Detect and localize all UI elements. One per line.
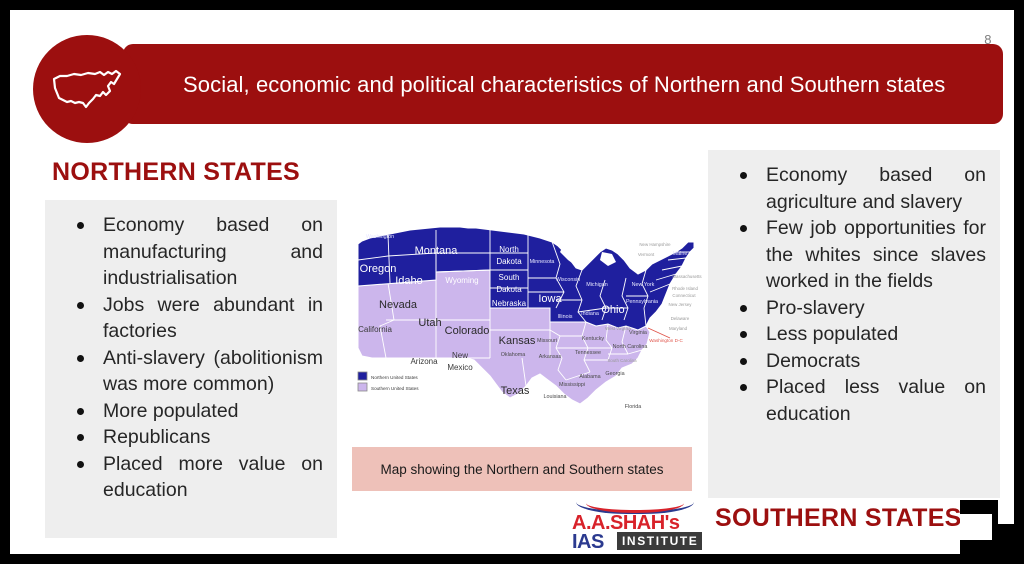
map-label-new-hampshire: New Hampshire — [639, 242, 671, 247]
list-item: Few job opportunities for the whites sin… — [724, 215, 986, 295]
map-label-arkansas: Arkansas — [539, 354, 562, 360]
map-label-texas: Texas — [501, 385, 530, 397]
corner-notch-cut-2 — [998, 500, 1014, 524]
southern-bullet-list: Economy based on agriculture and slavery… — [708, 150, 1000, 439]
map-label-virginia: Virginia — [629, 330, 647, 336]
map-legend: Northern United States Southern United S… — [358, 372, 419, 391]
slide-header-bar: Social, economic and political character… — [123, 44, 1003, 124]
usa-north-south-map: Montana Oregon Idaho Wyoming North Dakot… — [350, 208, 702, 438]
map-label-nevada: Nevada — [379, 299, 418, 311]
map-label-nebraska: Nebraska — [492, 299, 527, 308]
list-item: Placed less value on education — [724, 374, 986, 427]
map-label-north-dakota-2: Dakota — [496, 257, 522, 266]
map-label-north-dakota-1: North — [499, 245, 519, 254]
aa-shah-ias-institute-logo: A.A.SHAH's IAS INSTITUTE — [570, 502, 700, 550]
map-label-vermont: Vermont — [638, 252, 655, 257]
logo-line-2: IAS — [572, 531, 604, 554]
map-label-montana: Montana — [415, 245, 459, 257]
northern-states-heading: NORTHERN STATES — [52, 158, 300, 187]
map-label-wyoming: Wyoming — [445, 276, 478, 285]
map-label-west-virginia: West Virginia — [605, 326, 631, 331]
map-label-illinois: Illinois — [558, 314, 573, 320]
map-label-new-mexico-1: New — [452, 351, 468, 360]
map-label-idaho: Idaho — [395, 275, 423, 287]
map-label-utah: Utah — [418, 317, 441, 329]
map-label-ohio: Ohio — [601, 304, 624, 316]
southern-states-panel: Economy based on agriculture and slavery… — [708, 150, 1000, 498]
usa-outline-icon — [33, 35, 141, 143]
northern-states-panel: Economy based on manufacturing and indus… — [45, 200, 337, 538]
list-item: Republicans — [61, 424, 323, 451]
map-label-indiana: Indiana — [581, 311, 599, 317]
map-label-mississippi: Mississippi — [559, 382, 585, 388]
map-label-california: California — [358, 325, 392, 334]
map-label-kentucky: Kentucky — [582, 336, 604, 342]
map-label-new-jersey: New Jersey — [669, 302, 693, 307]
list-item: More populated — [61, 398, 323, 425]
map-label-maine: Maine — [673, 251, 688, 257]
map-label-louisiana: Louisiana — [543, 394, 566, 400]
map-caption: Map showing the Northern and Southern st… — [352, 447, 692, 491]
corner-notch — [960, 500, 1014, 554]
map-label-florida: Florida — [625, 404, 641, 410]
map-label-missouri: Missouri — [537, 338, 557, 344]
map-label-connecticut: Connecticut — [672, 293, 696, 298]
map-label-iowa: Iowa — [538, 293, 562, 305]
slide-frame: 8 Social, economic and political charact… — [0, 0, 1024, 564]
map-label-georgia: Georgia — [605, 371, 624, 377]
map-label-oklahoma: Oklahoma — [501, 352, 526, 358]
list-item: Economy based on agriculture and slavery — [724, 162, 986, 215]
list-item: Economy based on manufacturing and indus… — [61, 212, 323, 292]
map-label-new-york: New York — [632, 282, 655, 288]
map-label-colorado: Colorado — [445, 325, 490, 337]
map-label-oregon: Oregon — [360, 263, 397, 275]
map-label-maryland: Maryland — [669, 326, 688, 331]
list-item: Pro-slavery — [724, 295, 986, 322]
northern-bullet-list: Economy based on manufacturing and indus… — [45, 200, 337, 516]
slide-page: 8 Social, economic and political charact… — [10, 10, 1014, 554]
map-label-michigan: Michigan — [586, 282, 608, 288]
map-label-massachusetts: Massachusetts — [672, 274, 702, 279]
southern-states-heading: SOUTHERN STATES — [715, 504, 962, 533]
map-label-pennsylvania: Pennsylvania — [626, 299, 658, 305]
list-item: Democrats — [724, 348, 986, 375]
map-label-south-dakota-1: South — [499, 273, 520, 282]
list-item: Less populated — [724, 321, 986, 348]
map-label-arizona: Arizona — [410, 357, 438, 366]
corner-notch-cut — [960, 514, 992, 540]
legend-label-north: Northern United States — [371, 375, 418, 380]
list-item: Jobs were abundant in factories — [61, 292, 323, 345]
map-label-south-dakota-2: Dakota — [496, 285, 522, 294]
map-label-washington-dc: Washington D-C — [649, 338, 683, 343]
map-label-new-mexico-2: Mexico — [447, 363, 473, 372]
list-item: Anti-slavery (abolitionism was more comm… — [61, 345, 323, 398]
map-label-kansas: Kansas — [499, 335, 536, 347]
page-title: Social, economic and political character… — [123, 69, 975, 100]
map-label-tennessee: Tennessee — [575, 350, 601, 356]
legend-label-south: Southern United States — [371, 386, 419, 391]
map-label-minnesota: Minnesota — [530, 259, 555, 265]
map-label-south-carolina: South Carolina — [607, 358, 637, 363]
map-label-alabama: Alabama — [579, 374, 600, 380]
logo-institute-badge: INSTITUTE — [617, 532, 702, 550]
map-label-wisconsin: Wisconsin — [556, 277, 581, 283]
map-label-rhode-island: Rhode Island — [672, 286, 698, 291]
list-item: Placed more value on education — [61, 451, 323, 504]
map-label-washington: Washington — [366, 234, 394, 240]
map-label-delaware: Delaware — [671, 316, 690, 321]
map-label-north-carolina: North Carolina — [613, 344, 648, 350]
